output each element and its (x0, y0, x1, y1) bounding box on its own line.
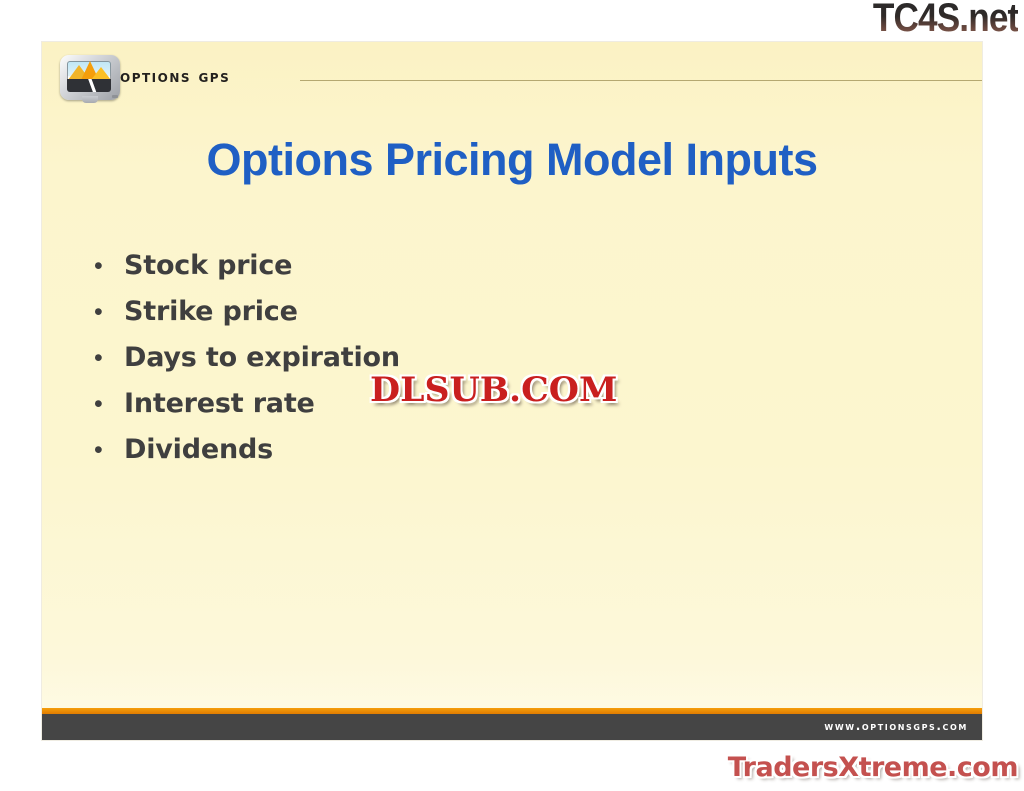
road-shape (67, 79, 111, 92)
bullet-dot-icon: • (94, 300, 124, 325)
bullet-list: • Stock price • Strike price • Days to e… (94, 250, 400, 480)
bullet-label: Days to expiration (124, 342, 400, 373)
slide-footer-bar: www.OptionsGPS.com (42, 714, 982, 740)
bullet-label: Interest rate (124, 388, 315, 419)
list-item: • Dividends (94, 434, 400, 465)
bullet-dot-icon: • (94, 346, 124, 371)
gps-device-screen (67, 61, 111, 92)
list-item: • Days to expiration (94, 342, 400, 373)
list-item: • Stock price (94, 250, 400, 281)
bullet-label: Strike price (124, 296, 298, 327)
gps-device-button (112, 95, 118, 98)
slide-title: Options Pricing Model Inputs (42, 134, 982, 186)
tradersxtreme-watermark: TradersXtreme.com (728, 752, 1018, 783)
list-item: • Strike price (94, 296, 400, 327)
gps-device-icon (60, 55, 122, 103)
slide-header: Options GPS (42, 42, 982, 104)
bullet-label: Stock price (124, 250, 292, 281)
list-item: • Interest rate (94, 388, 400, 419)
bullet-dot-icon: • (94, 438, 124, 463)
tc4s-brand-logo: TC4S.net (872, 0, 1018, 38)
gps-device-stand (82, 96, 98, 103)
header-divider-rule (300, 80, 982, 81)
bullet-label: Dividends (124, 434, 273, 465)
dlsub-watermark: DLSUB.COM (370, 370, 617, 410)
bullet-dot-icon: • (94, 392, 124, 417)
options-gps-wordmark: Options GPS (120, 67, 230, 87)
bullet-dot-icon: • (94, 254, 124, 279)
footer-website-url: www.OptionsGPS.com (824, 719, 968, 733)
